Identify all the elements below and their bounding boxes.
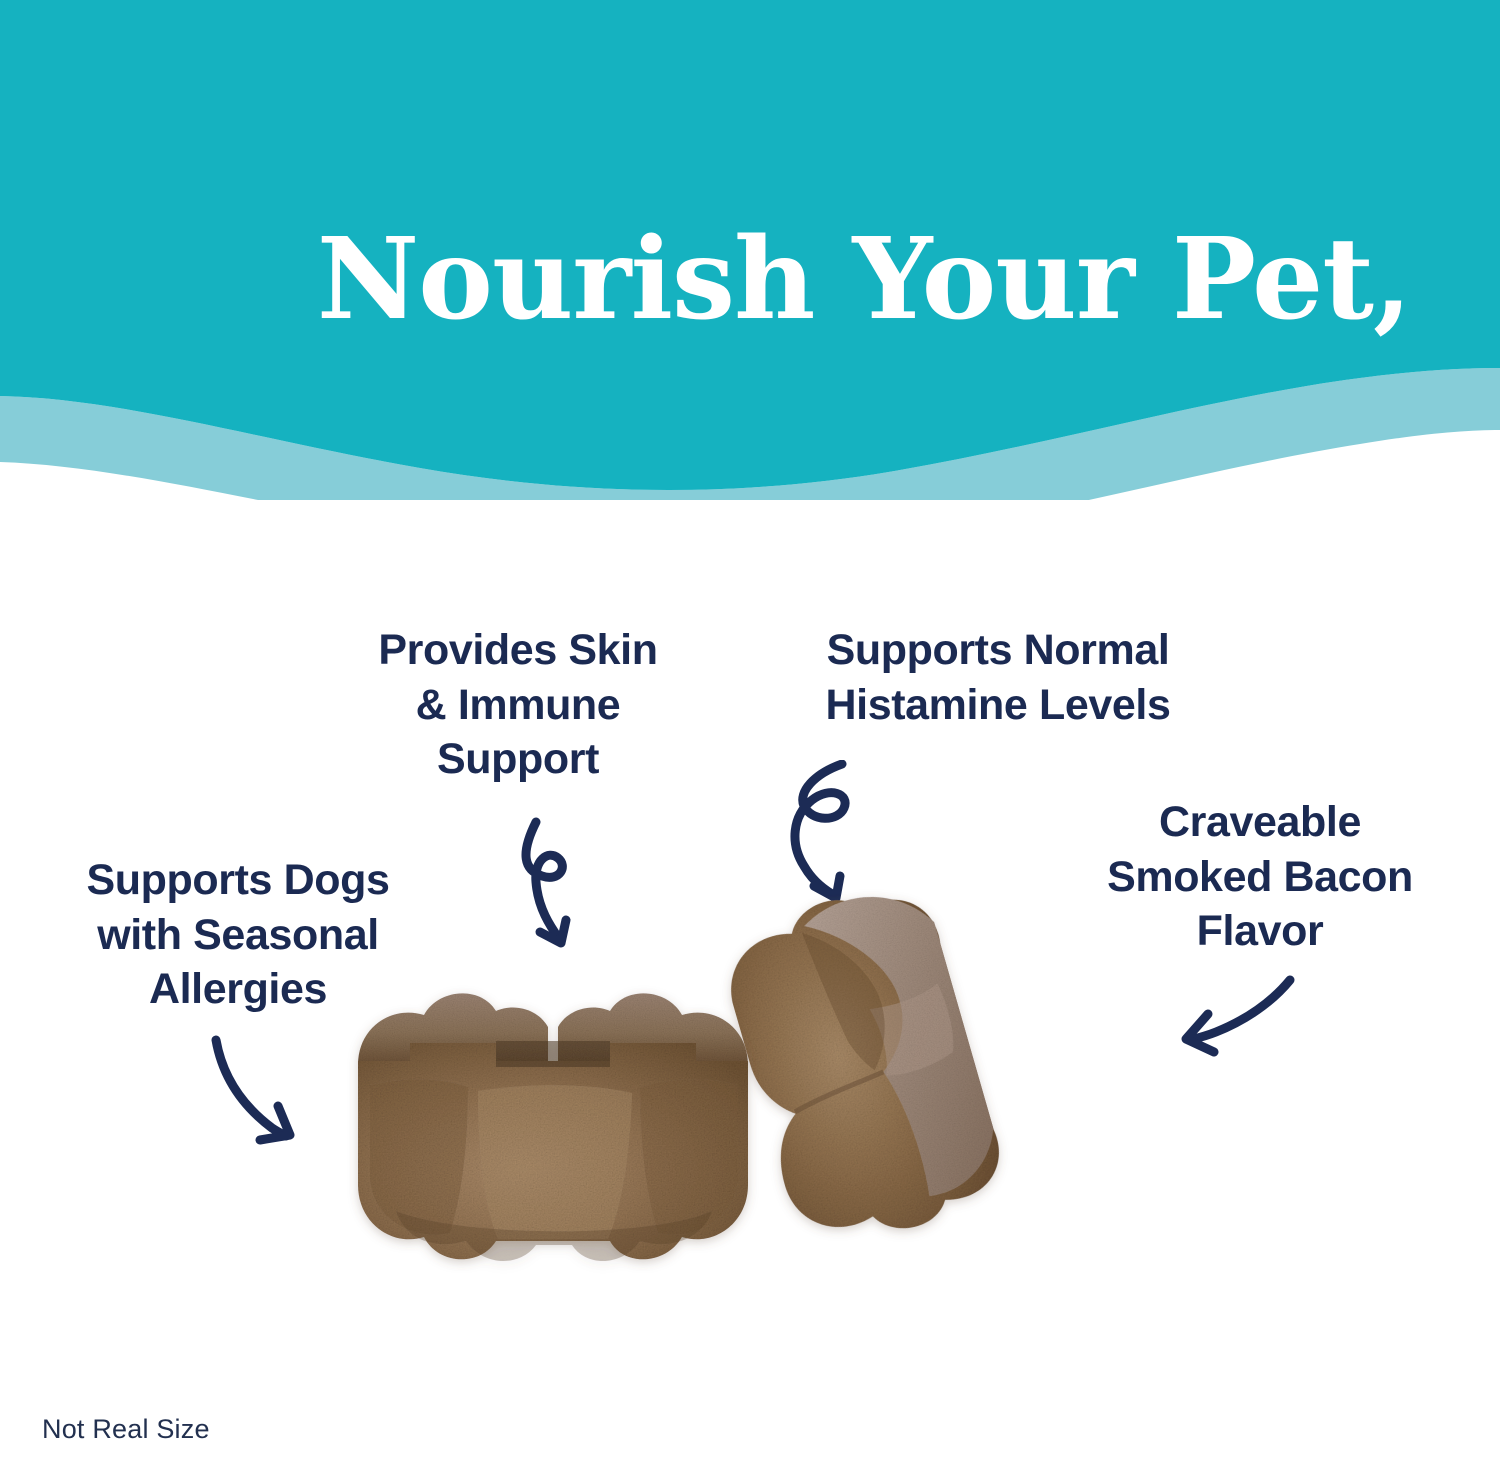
bone-treat-tilted [713, 874, 1014, 1258]
trademark-icon: ™ [1242, 496, 1276, 500]
footnote-not-real-size: Not Real Size [42, 1414, 210, 1445]
headline-line-2: Inside & Out [454, 492, 1241, 500]
callout-label-skin-immune: Provides Skin & Immune Support [318, 623, 718, 787]
page-title: Nourish Your Pet, Inside & Out™ [0, 72, 1500, 500]
callout-label-histamine: Supports Normal Histamine Levels [748, 623, 1248, 732]
bone-treat-front [358, 993, 748, 1261]
headline-line-2-wrap: Inside & Out™ [454, 489, 1275, 500]
headline-line-1: Nourish Your Pet, [317, 214, 1411, 345]
infographic-page: Nourish Your Pet, Inside & Out™ Provides… [0, 0, 1500, 1469]
header-banner: Nourish Your Pet, Inside & Out™ [0, 0, 1500, 500]
product-photo-dog-treats [300, 855, 1300, 1375]
